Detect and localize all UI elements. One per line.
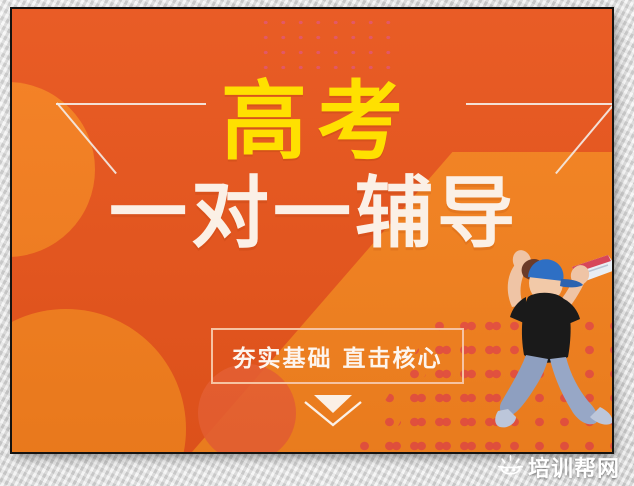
watermark: 培训帮网 [494,450,634,484]
page-root: 高考 一对一辅导 夯实基础 直击核心 [0,0,634,486]
watermark-text: 培训帮网 [528,451,620,483]
chevron-down-icon [300,391,366,429]
promo-banner: 高考 一对一辅导 夯实基础 直击核心 [12,9,612,452]
sun-face-icon [498,455,523,480]
jumping-student-illustration [468,239,612,452]
tagline-box: 夯实基础 直击核心 [211,328,464,384]
headline-block: 高考 一对一辅导 [12,79,612,253]
dot-grid-top [257,15,398,69]
tagline-text: 夯实基础 直击核心 [232,339,442,373]
circle-decoration-bottom-left [12,309,186,452]
page-title: 高考 [12,79,612,165]
